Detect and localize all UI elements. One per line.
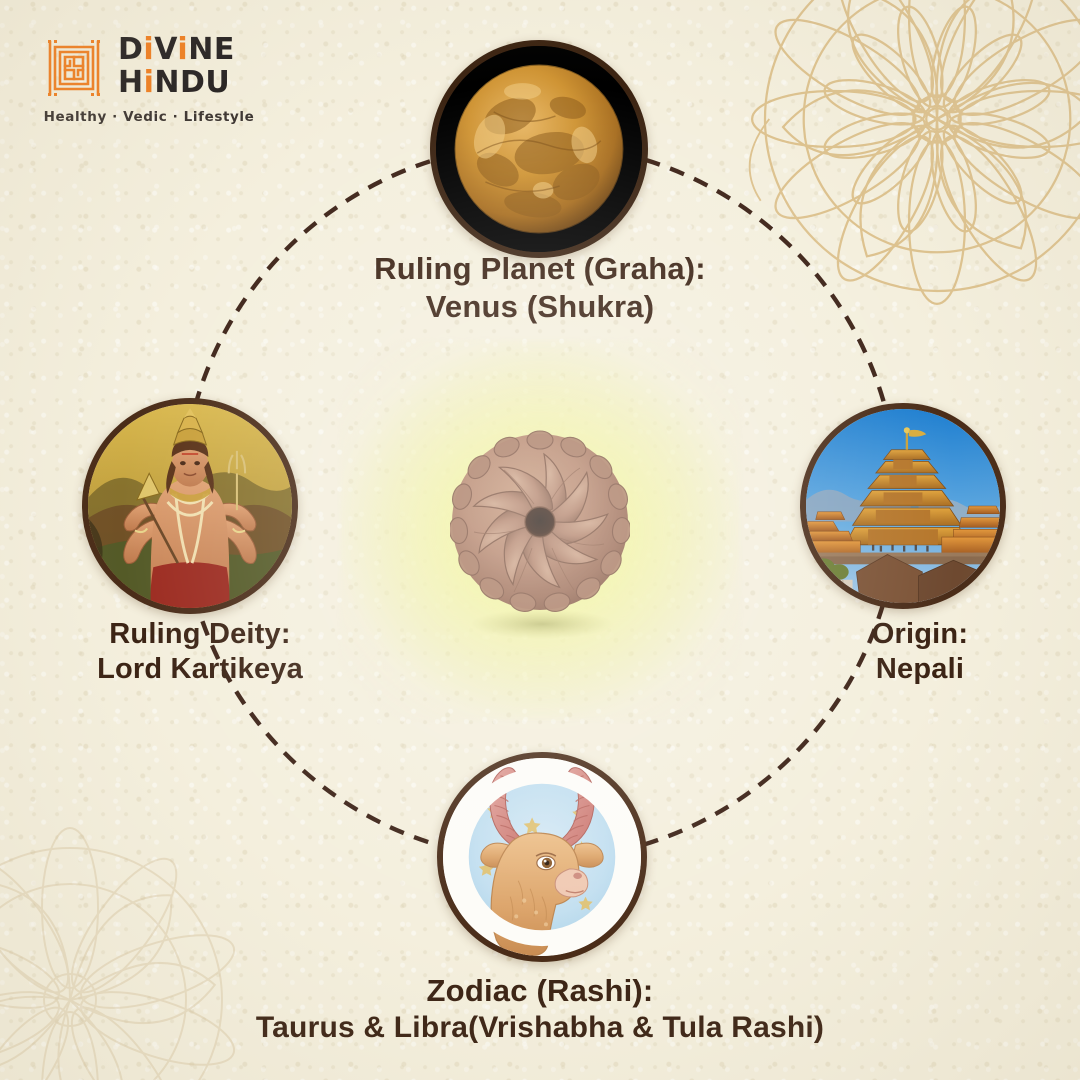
node-ruling-planet[interactable] (430, 40, 648, 258)
caption-ruling-deity: Ruling Deity: Lord Kartikeya (0, 617, 410, 688)
caption-title: Ruling Planet (Graha): (240, 250, 840, 288)
venus-planet-icon (430, 40, 648, 258)
lord-kartikeya-icon (82, 398, 298, 614)
caption-title: Ruling Deity: (0, 617, 410, 652)
node-zodiac[interactable] (437, 752, 647, 962)
infographic-canvas: Ruling Planet (Graha): Venus (Shukra) (0, 0, 1080, 1080)
brand-logo[interactable]: DiViNE HiNDU Healthy · Vedic · Lifestyle (42, 33, 257, 133)
rudraksha-bead-image (450, 410, 630, 640)
caption-title: Zodiac (Rashi): (40, 972, 1040, 1010)
caption-zodiac: Zodiac (Rashi): Taurus & Libra(Vrishabha… (40, 972, 1040, 1046)
nepal-pagoda-icon (800, 403, 1006, 609)
caption-value: Lord Kartikeya (0, 652, 410, 687)
brand-name-line1: DiViNE (118, 33, 235, 66)
caption-origin: Origin: Nepali (760, 617, 1080, 688)
brand-name-line2: HiNDU (118, 66, 235, 99)
node-ruling-deity[interactable] (82, 398, 298, 614)
caption-value: Taurus & Libra(Vrishabha & Tula Rashi) (40, 1010, 1040, 1047)
caption-value: Venus (Shukra) (240, 288, 840, 326)
brand-tagline: Healthy · Vedic · Lifestyle (43, 109, 255, 125)
node-origin[interactable] (800, 403, 1006, 609)
brand-wordmark: DiViNE HiNDU (118, 33, 235, 99)
caption-ruling-planet: Ruling Planet (Graha): Venus (Shukra) (240, 250, 840, 326)
labyrinth-mark-icon (42, 36, 106, 100)
taurus-bull-icon (437, 752, 647, 962)
caption-value: Nepali (760, 652, 1080, 687)
caption-title: Origin: (760, 617, 1080, 652)
